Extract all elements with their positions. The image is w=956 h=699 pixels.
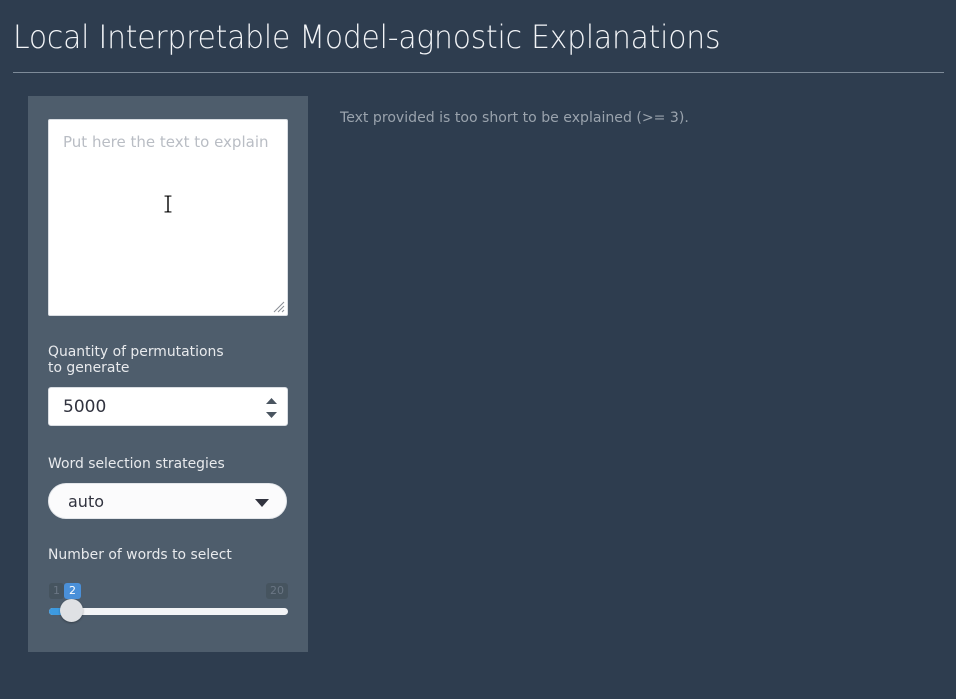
permutations-label: Quantity of permutations to generate xyxy=(48,344,235,376)
slider-max-label: 20 xyxy=(266,583,288,599)
permutations-value-field[interactable] xyxy=(49,396,249,418)
slider-min-label: 1 xyxy=(49,583,64,599)
permutations-steppers[interactable] xyxy=(263,388,279,427)
slider-track[interactable] xyxy=(49,608,288,615)
words-slider[interactable]: 1 2 20 xyxy=(48,583,288,617)
stepper-up-icon[interactable] xyxy=(266,398,277,404)
strategy-group: Word selection strategies auto xyxy=(48,456,288,519)
sidebar-panel: Quantity of permutations to generate Wor… xyxy=(28,96,308,652)
strategy-label: Word selection strategies xyxy=(48,456,278,472)
permutations-group: Quantity of permutations to generate xyxy=(48,344,288,426)
strategy-selected-value: auto xyxy=(49,492,104,511)
chevron-down-icon[interactable] xyxy=(255,499,269,507)
app-header: Local Interpretable Model-agnostic Expla… xyxy=(0,0,956,73)
slider-value-badge: 2 xyxy=(64,583,81,599)
words-slider-label: Number of words to select xyxy=(48,547,288,563)
permutations-number-input[interactable] xyxy=(48,387,288,426)
page-title: Local Interpretable Model-agnostic Expla… xyxy=(13,17,720,57)
short-text-warning-message: Text provided is too short to be explain… xyxy=(340,108,922,128)
text-to-explain-field[interactable] xyxy=(48,119,288,316)
main-content: Text provided is too short to be explain… xyxy=(340,108,940,128)
strategy-select[interactable]: auto xyxy=(48,483,287,519)
header-divider xyxy=(13,72,944,73)
words-slider-group: Number of words to select 1 2 20 xyxy=(48,547,298,617)
slider-thumb[interactable] xyxy=(60,599,83,622)
text-to-explain-input[interactable] xyxy=(48,119,288,316)
stepper-down-icon[interactable] xyxy=(266,412,277,418)
